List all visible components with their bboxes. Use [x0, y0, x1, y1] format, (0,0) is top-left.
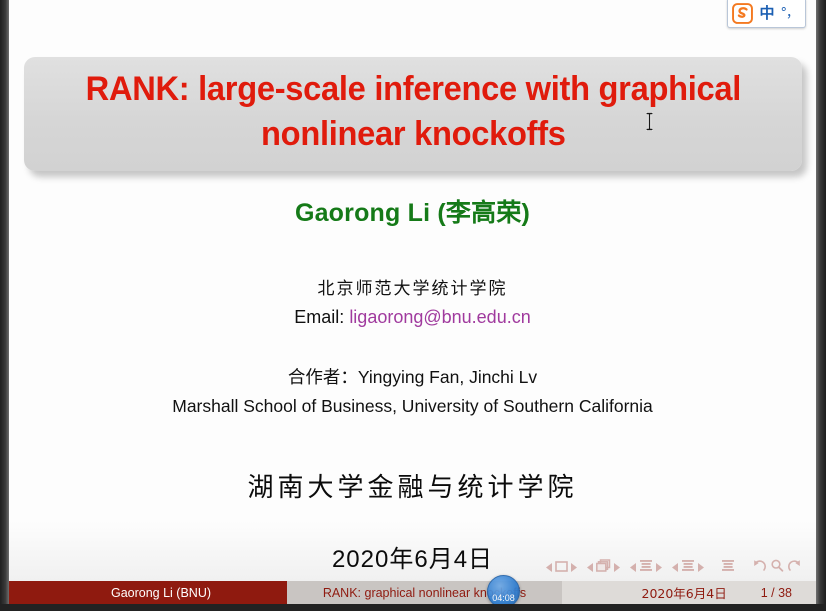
document-lines-icon[interactable]	[721, 559, 735, 577]
triangle-left-icon[interactable]	[587, 559, 594, 577]
email-address[interactable]: ligaorong@bnu.edu.cn	[349, 307, 530, 327]
subsection-navigation-group[interactable]	[630, 559, 662, 577]
triangle-right-icon[interactable]	[697, 559, 704, 577]
beamer-navigation-bar[interactable]	[546, 559, 802, 577]
triangle-left-icon[interactable]	[630, 559, 637, 577]
triangle-right-icon[interactable]	[570, 559, 577, 577]
triangle-left-icon[interactable]	[546, 559, 553, 577]
slide-footer: Gaorong Li (BNU) RANK: graphical nonline…	[9, 581, 816, 604]
collaborators-block: 合作者：Yingying Fan, Jinchi Lv Marshall Sch…	[9, 364, 816, 417]
window-border-left	[0, 0, 9, 611]
frame-navigation-group[interactable]	[587, 559, 620, 577]
collaborators-affiliation: Marshall School of Business, University …	[9, 396, 816, 417]
footer-page-number: 1 / 38	[761, 586, 792, 600]
screen-root: 中 °， RANK: large-scale inference with gr…	[0, 0, 826, 611]
slide-body: Gaorong Li (李高荣) 北京师范大学统计学院 Email: ligao…	[9, 185, 816, 574]
window-border-right	[816, 0, 826, 611]
ime-punctuation-toggle[interactable]: °，	[780, 7, 798, 20]
sogou-logo-icon[interactable]	[732, 3, 753, 24]
triangle-left-icon[interactable]	[672, 559, 679, 577]
collaborators-line: 合作者：Yingying Fan, Jinchi Lv	[9, 364, 816, 389]
slide-title-box: RANK: large-scale inference with graphic…	[24, 57, 802, 171]
footer-date: 2020年6月4日	[642, 583, 727, 602]
frame-stack-icon[interactable]	[596, 559, 611, 577]
triangle-right-icon[interactable]	[655, 559, 662, 577]
text-cursor-ibeam	[645, 112, 654, 131]
slide-title: RANK: large-scale inference with graphic…	[85, 67, 740, 157]
author-name: Gaorong Li (李高荣)	[9, 193, 816, 229]
footer-author: Gaorong Li (BNU)	[9, 581, 287, 604]
forward-arrow-icon[interactable]	[787, 559, 802, 577]
affiliation-chinese: 北京师范大学统计学院	[9, 274, 816, 299]
subsection-lines-icon[interactable]	[639, 559, 653, 577]
slide-navigation-group[interactable]	[546, 559, 577, 577]
window-border-bottom	[0, 604, 826, 611]
venue-block: 湖南大学金融与统计学院 2020年6月4日	[9, 467, 816, 574]
slide-square-icon[interactable]	[555, 559, 568, 577]
slide-title-line-2: nonlinear knockoffs	[85, 112, 740, 157]
venue-name: 湖南大学金融与统计学院	[9, 467, 816, 504]
footer-right-section: 2020年6月4日 1 / 38	[562, 581, 816, 604]
section-lines-icon[interactable]	[681, 559, 695, 577]
slide-title-line-1: RANK: large-scale inference with graphic…	[85, 67, 740, 112]
footer-short-title: RANK: graphical nonlinear knockoffs	[287, 581, 562, 604]
email-line: Email: ligaorong@bnu.edu.cn	[9, 307, 816, 328]
magnifier-icon[interactable]	[770, 559, 784, 577]
ime-mode-label[interactable]: 中	[759, 6, 774, 21]
email-label: Email:	[294, 307, 344, 327]
back-arrow-icon[interactable]	[752, 559, 767, 577]
presentation-slide: 中 °， RANK: large-scale inference with gr…	[9, 0, 816, 604]
sogou-ime-toolbar[interactable]: 中 °，	[727, 0, 806, 28]
triangle-right-icon[interactable]	[613, 559, 620, 577]
recording-timer-badge[interactable]: 04:08	[487, 575, 520, 604]
affiliation-block: 北京师范大学统计学院 Email: ligaorong@bnu.edu.cn	[9, 274, 816, 328]
section-navigation-group[interactable]	[672, 559, 704, 577]
